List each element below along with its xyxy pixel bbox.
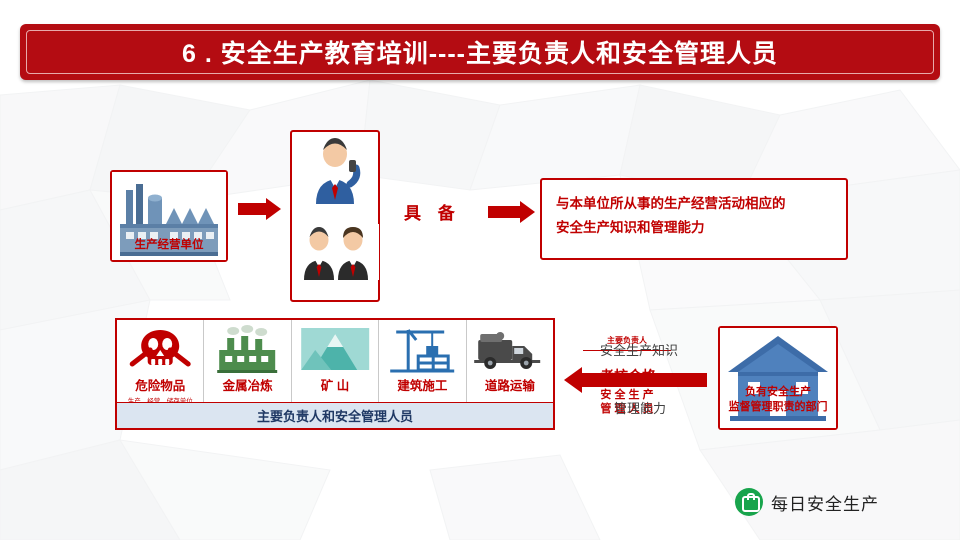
assessment-pass-label: 考核合格	[600, 366, 656, 386]
category-hazardous-materials: 危险物品 生产、经营、储存单位	[117, 320, 204, 404]
category-name: 建筑施工	[397, 375, 447, 394]
requirement-panel: 与本单位所从事的生产经营活动相应的 安全生产知识和管理能力	[540, 178, 848, 260]
road-transport-truck-icon	[467, 324, 553, 374]
requirement-line-2: 安全生产知识和管理能力	[556, 216, 832, 240]
category-name: 矿 山	[321, 375, 349, 394]
construction-crane-icon	[379, 324, 465, 374]
watermark: 每日安全生产	[735, 488, 879, 516]
category-row: 危险物品 生产、经营、储存单位	[117, 320, 553, 404]
safety-staff-icon	[293, 224, 379, 280]
high-risk-categories-box: 危险物品 生产、经营、储存单位	[115, 318, 555, 430]
background-polygon-texture	[0, 0, 960, 540]
skull-hazard-icon	[117, 324, 203, 374]
category-name: 道路运输	[485, 375, 535, 394]
category-mine: 矿 山	[292, 320, 379, 404]
safety-knowledge-label: 安全生产知识	[600, 340, 678, 359]
management-ability-label: 管理能力	[614, 398, 666, 417]
factory-label: 生产经营单位	[110, 236, 228, 252]
requirement-line-1: 与本单位所从事的生产经营活动相应的	[556, 192, 832, 216]
page-title-text: 6 . 安全生产教育培训----主要负责人和安全管理人员	[26, 30, 934, 74]
dept-label-line1: 负有安全生产	[718, 385, 838, 400]
category-name: 危险物品	[135, 375, 185, 394]
chief-person-icon	[292, 134, 378, 204]
slide-canvas: 6 . 安全生产教育培训----主要负责人和安全管理人员	[0, 0, 960, 540]
watermark-text: 每日安全生产	[771, 490, 879, 515]
category-name: 金属冶炼	[223, 375, 273, 394]
category-construction: 建筑施工	[379, 320, 466, 404]
category-road-transport: 道路运输	[467, 320, 553, 404]
page-title: 6 . 安全生产教育培训----主要负责人和安全管理人员	[20, 24, 940, 80]
category-metal-smelting: 金属冶炼	[204, 320, 291, 404]
dept-label-line2: 监督管理职责的部门	[718, 400, 838, 415]
persons-illustration-box: 主要负责人 安 全 生 产 管 理 人 员	[290, 130, 380, 302]
categories-footer-label: 主要负责人和安全管理人员	[117, 402, 553, 428]
wechat-green-logo-icon	[735, 488, 763, 516]
supervision-department-label: 负有安全生产 监督管理职责的部门	[718, 385, 838, 415]
possess-label: 具 备	[404, 199, 461, 224]
mine-mountain-icon	[292, 324, 378, 374]
smelting-plant-icon	[204, 324, 290, 374]
